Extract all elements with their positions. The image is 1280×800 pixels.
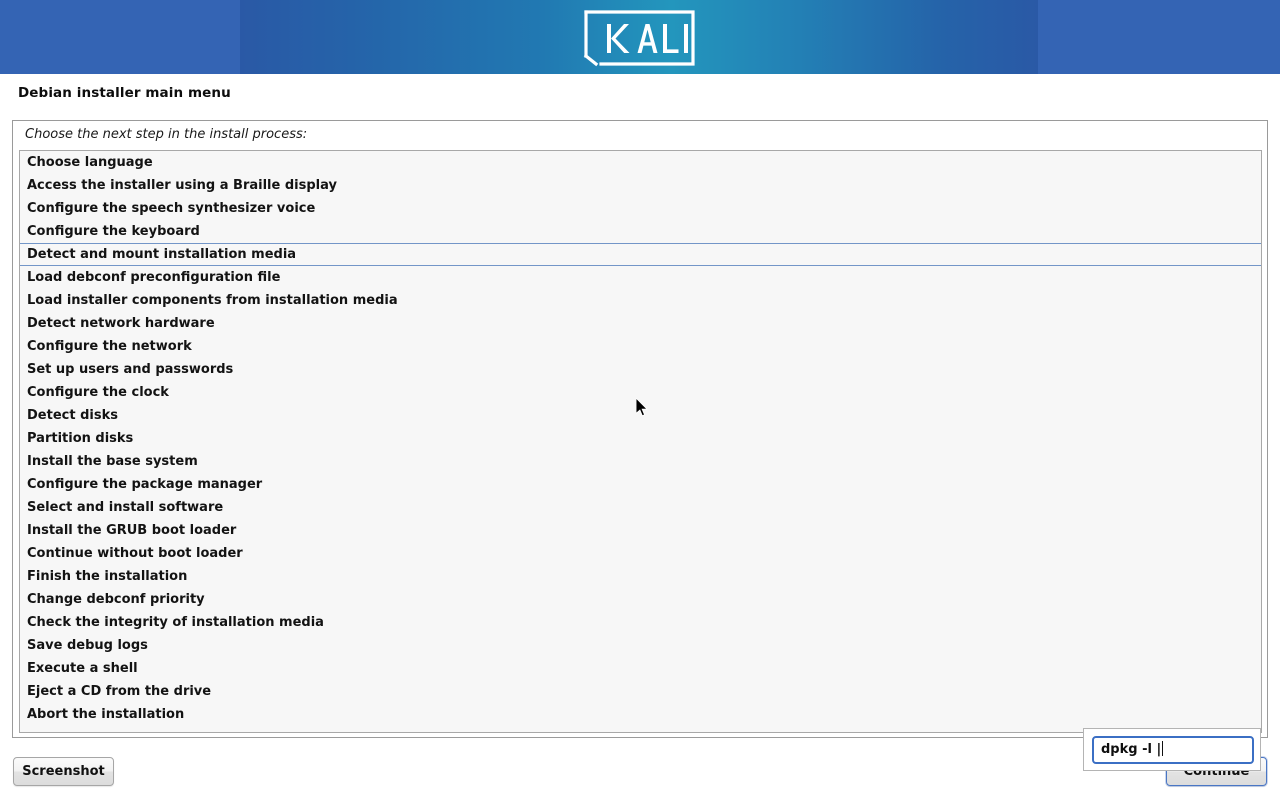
menu-item-configure-the-clock[interactable]: Configure the clock <box>20 381 1261 404</box>
menu-item-label: Finish the installation <box>27 569 187 584</box>
menu-item-label: Load debconf preconfiguration file <box>27 270 280 285</box>
menu-item-label: Abort the installation <box>27 707 184 722</box>
menu-item-label: Detect network hardware <box>27 316 215 331</box>
menu-item-label: Execute a shell <box>27 661 138 676</box>
menu-item-label: Configure the network <box>27 339 192 354</box>
menu-item-partition-disks[interactable]: Partition disks <box>20 427 1261 450</box>
menu-item-configure-the-speech-synthesizer-voice[interactable]: Configure the speech synthesizer voice <box>20 197 1261 220</box>
menu-item-install-the-base-system[interactable]: Install the base system <box>20 450 1261 473</box>
menu-item-label: Choose language <box>27 155 153 170</box>
menu-item-choose-language[interactable]: Choose language <box>20 151 1261 174</box>
install-step-list[interactable]: Choose languageAccess the installer usin… <box>19 150 1262 733</box>
menu-item-label: Load installer components from installat… <box>27 293 398 308</box>
menu-item-select-and-install-software[interactable]: Select and install software <box>20 496 1261 519</box>
menu-item-label: Continue without boot loader <box>27 546 243 561</box>
menu-item-detect-disks[interactable]: Detect disks <box>20 404 1261 427</box>
menu-item-label: Detect and mount installation media <box>27 247 296 262</box>
menu-item-load-installer-components-from-installation-media[interactable]: Load installer components from installat… <box>20 289 1261 312</box>
menu-item-label: Configure the package manager <box>27 477 262 492</box>
menu-item-save-debug-logs[interactable]: Save debug logs <box>20 634 1261 657</box>
menu-item-abort-the-installation[interactable]: Abort the installation <box>20 703 1261 726</box>
menu-item-label: Detect disks <box>27 408 118 423</box>
page-title: Debian installer main menu <box>18 85 231 101</box>
menu-item-access-the-installer-using-a-braille-display[interactable]: Access the installer using a Braille dis… <box>20 174 1261 197</box>
menu-item-check-the-integrity-of-installation-media[interactable]: Check the integrity of installation medi… <box>20 611 1261 634</box>
installer-screen: Debian installer main menu Choose the ne… <box>0 0 1280 800</box>
menu-item-finish-the-installation[interactable]: Finish the installation <box>20 565 1261 588</box>
menu-item-label: Install the base system <box>27 454 198 469</box>
menu-item-label: Access the installer using a Braille dis… <box>27 178 337 193</box>
menu-item-configure-the-keyboard[interactable]: Configure the keyboard <box>20 220 1261 243</box>
menu-item-label: Partition disks <box>27 431 133 446</box>
menu-item-label: Configure the clock <box>27 385 169 400</box>
menu-item-label: Change debconf priority <box>27 592 205 607</box>
menu-item-install-the-grub-boot-loader[interactable]: Install the GRUB boot loader <box>20 519 1261 542</box>
text-caret <box>1162 741 1163 756</box>
menu-item-label: Save debug logs <box>27 638 148 653</box>
menu-item-configure-the-package-manager[interactable]: Configure the package manager <box>20 473 1261 496</box>
menu-item-label: Set up users and passwords <box>27 362 233 377</box>
menu-item-set-up-users-and-passwords[interactable]: Set up users and passwords <box>20 358 1261 381</box>
menu-item-label: Configure the speech synthesizer voice <box>27 201 315 216</box>
menu-item-detect-network-hardware[interactable]: Detect network hardware <box>20 312 1261 335</box>
menu-item-detect-and-mount-installation-media[interactable]: Detect and mount installation media <box>20 243 1261 266</box>
menu-item-label: Configure the keyboard <box>27 224 200 239</box>
menu-item-label: Check the integrity of installation medi… <box>27 615 324 630</box>
menu-item-load-debconf-preconfiguration-file[interactable]: Load debconf preconfiguration file <box>20 266 1261 289</box>
menu-item-eject-a-cd-from-the-drive[interactable]: Eject a CD from the drive <box>20 680 1261 703</box>
command-input[interactable]: dpkg -l | <box>1092 736 1254 764</box>
kali-logo <box>583 9 696 67</box>
menu-item-change-debconf-priority[interactable]: Change debconf priority <box>20 588 1261 611</box>
screenshot-button[interactable]: Screenshot <box>13 757 114 786</box>
prompt-label: Choose the next step in the install proc… <box>25 127 307 142</box>
kali-banner <box>0 0 1280 74</box>
command-input-value: dpkg -l | <box>1101 742 1161 757</box>
menu-item-configure-the-network[interactable]: Configure the network <box>20 335 1261 358</box>
menu-item-label: Eject a CD from the drive <box>27 684 211 699</box>
menu-item-label: Select and install software <box>27 500 223 515</box>
main-content-frame: Choose the next step in the install proc… <box>12 120 1268 738</box>
menu-item-continue-without-boot-loader[interactable]: Continue without boot loader <box>20 542 1261 565</box>
menu-item-execute-a-shell[interactable]: Execute a shell <box>20 657 1261 680</box>
command-input-overlay: dpkg -l | <box>1083 728 1261 771</box>
menu-item-label: Install the GRUB boot loader <box>27 523 236 538</box>
